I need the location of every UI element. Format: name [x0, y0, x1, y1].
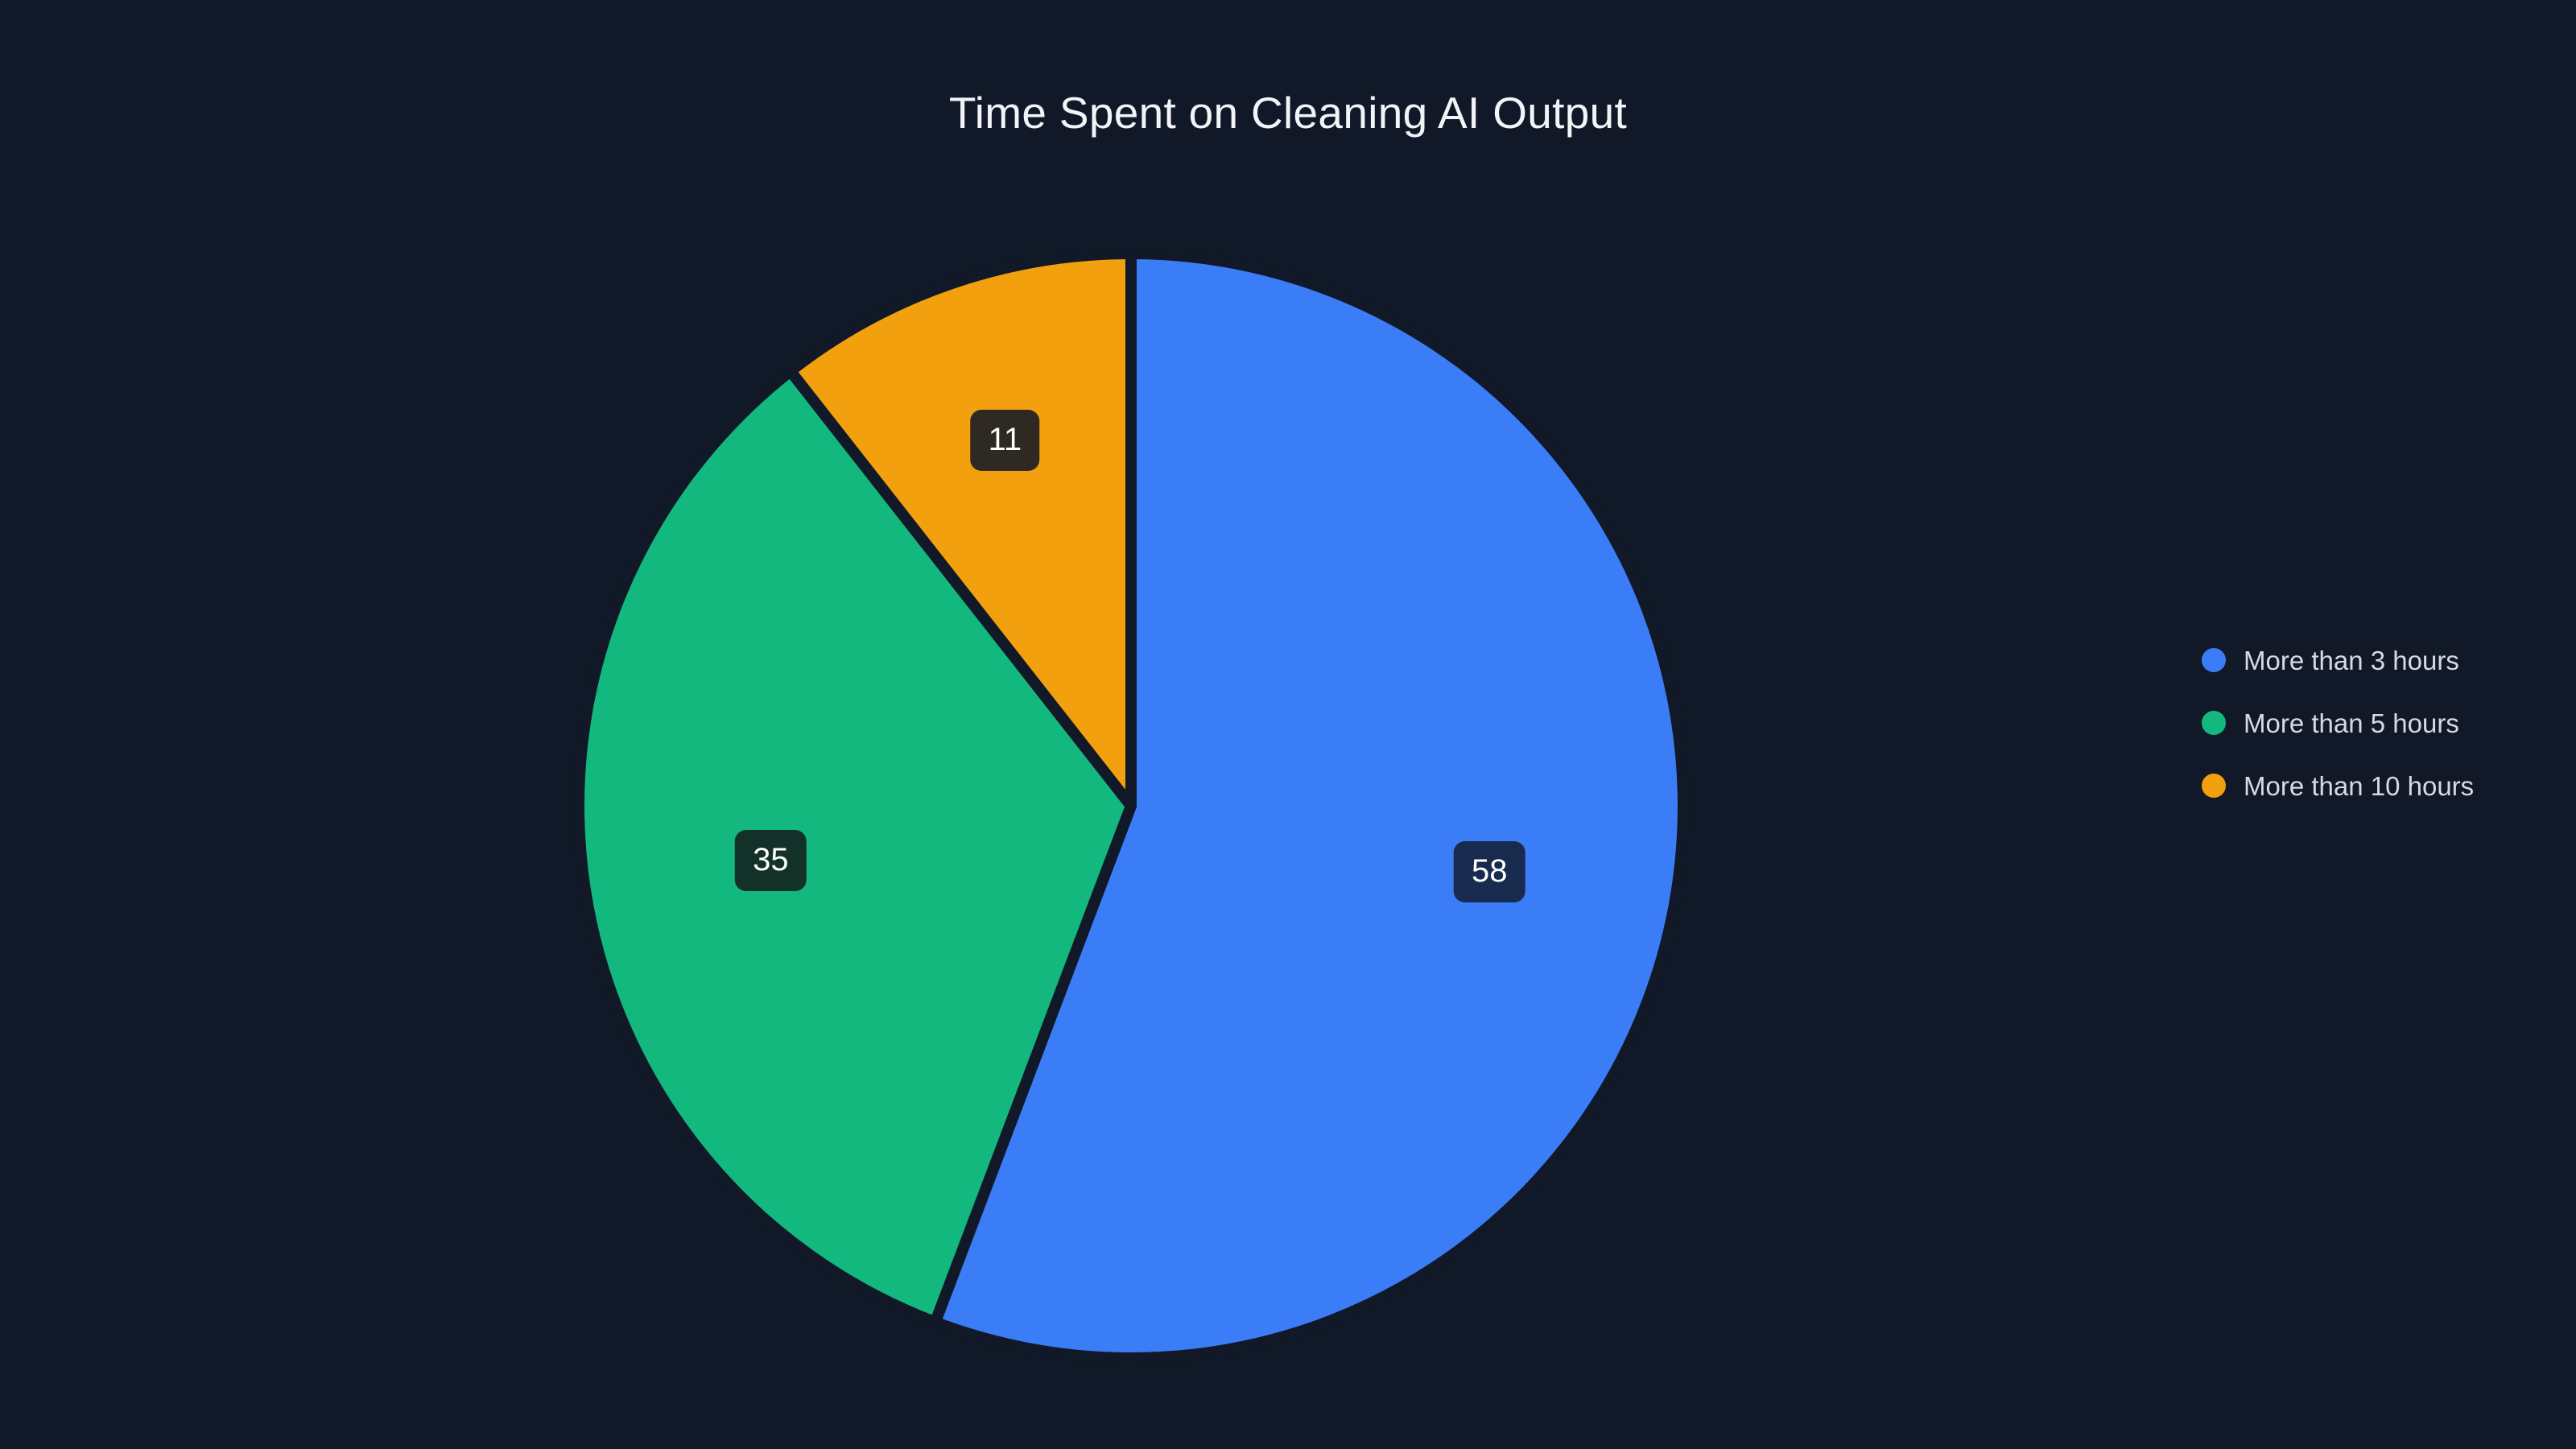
- legend-circle-marker-icon: [2202, 648, 2226, 672]
- pie-data-label: 35: [735, 830, 807, 891]
- legend-item-label: More than 5 hours: [2244, 710, 2459, 737]
- legend-circle-marker-icon: [2202, 774, 2226, 798]
- pie-plot-area: 583511: [0, 0, 2061, 1449]
- pie-data-label: 11: [971, 410, 1040, 471]
- legend-item-label: More than 10 hours: [2244, 773, 2474, 799]
- legend-item[interactable]: More than 10 hours: [2202, 770, 2474, 802]
- legend-circle-marker-icon: [2202, 711, 2226, 735]
- pie-slice-group: [579, 254, 1683, 1358]
- legend-item-label: More than 3 hours: [2244, 647, 2459, 674]
- chart-legend: More than 3 hoursMore than 5 hoursMore t…: [2202, 644, 2474, 802]
- pie-chart-root: Time Spent on Cleaning AI Output 583511 …: [0, 0, 2576, 1449]
- legend-item[interactable]: More than 3 hours: [2202, 644, 2474, 676]
- legend-item[interactable]: More than 5 hours: [2202, 707, 2474, 739]
- pie-data-label: 58: [1454, 841, 1525, 902]
- pie-svg: [0, 0, 2061, 1449]
